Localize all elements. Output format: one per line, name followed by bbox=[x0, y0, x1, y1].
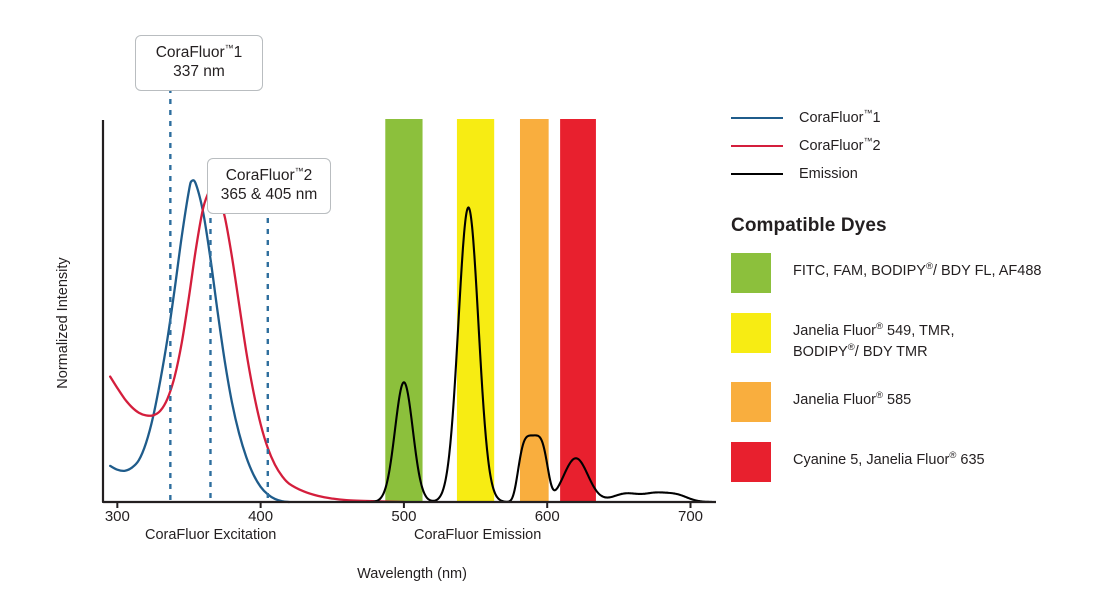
x-tick-label-700: 700 bbox=[661, 508, 721, 525]
dye-item-3: Cyanine 5, Janelia Fluor® 635 bbox=[731, 442, 1091, 482]
compatible-dyes-title: Compatible Dyes bbox=[731, 215, 1091, 237]
x-tick-label-400: 400 bbox=[231, 508, 291, 525]
legend-item-2: Emission bbox=[731, 160, 1091, 188]
dye-item-0: FITC, FAM, BODIPY®/ BDY FL, AF488 bbox=[731, 253, 1091, 293]
legend-swatch-line-0 bbox=[731, 117, 783, 119]
legend-item-0: CoraFluor™1 bbox=[731, 104, 1091, 132]
callout-corafluor1-line2: 337 nm bbox=[146, 62, 252, 81]
dye-label-1: Janelia Fluor® 549, TMR,BODIPY®/ BDY TMR bbox=[793, 313, 954, 362]
sub-label-emission: CoraFluor Emission bbox=[414, 527, 541, 543]
curve-corafluor2 bbox=[110, 186, 404, 502]
dye-label-3: Cyanine 5, Janelia Fluor® 635 bbox=[793, 442, 985, 471]
dye-swatch-3 bbox=[731, 442, 771, 482]
x-tick-label-300: 300 bbox=[87, 508, 147, 525]
callout-corafluor2-line2: 365 & 405 nm bbox=[218, 185, 320, 204]
legend-label-1: CoraFluor™2 bbox=[799, 138, 881, 154]
chart-legend-panel: CoraFluor™1CoraFluor™2Emission Compatibl… bbox=[731, 104, 1091, 502]
dye-label-0: FITC, FAM, BODIPY®/ BDY FL, AF488 bbox=[793, 253, 1041, 282]
legend-swatch-line-2 bbox=[731, 173, 783, 175]
dye-item-2: Janelia Fluor® 585 bbox=[731, 382, 1091, 422]
x-tick-label-600: 600 bbox=[517, 508, 577, 525]
legend-item-1: CoraFluor™2 bbox=[731, 132, 1091, 160]
dye-swatch-2 bbox=[731, 382, 771, 422]
series-legend: CoraFluor™1CoraFluor™2Emission bbox=[731, 104, 1091, 188]
dye-swatch-1 bbox=[731, 313, 771, 353]
dye-swatch-0 bbox=[731, 253, 771, 293]
yellow-band bbox=[457, 119, 494, 502]
x-axis-title: Wavelength (nm) bbox=[0, 566, 824, 582]
y-axis-title: Normalized Intensity bbox=[55, 233, 71, 413]
callout-corafluor1-line1: CoraFluor™1 bbox=[146, 43, 252, 62]
legend-label-0: CoraFluor™1 bbox=[799, 110, 881, 126]
dye-label-2: Janelia Fluor® 585 bbox=[793, 382, 911, 411]
callout-corafluor2-line1: CoraFluor™2 bbox=[218, 166, 320, 185]
sub-label-excitation: CoraFluor Excitation bbox=[145, 527, 276, 543]
legend-label-2: Emission bbox=[799, 166, 858, 182]
orange-band bbox=[520, 119, 549, 502]
compatible-dyes-list: FITC, FAM, BODIPY®/ BDY FL, AF488Janelia… bbox=[731, 253, 1091, 482]
red-band bbox=[560, 119, 596, 502]
spectra-chart: CoraFluor™1 337 nm CoraFluor™2 365 & 405… bbox=[0, 0, 1110, 612]
callout-corafluor2: CoraFluor™2 365 & 405 nm bbox=[207, 158, 331, 214]
legend-swatch-line-1 bbox=[731, 145, 783, 147]
green-band bbox=[385, 119, 422, 502]
dye-item-1: Janelia Fluor® 549, TMR,BODIPY®/ BDY TMR bbox=[731, 313, 1091, 362]
x-tick-label-500: 500 bbox=[374, 508, 434, 525]
callout-corafluor1: CoraFluor™1 337 nm bbox=[135, 35, 263, 91]
